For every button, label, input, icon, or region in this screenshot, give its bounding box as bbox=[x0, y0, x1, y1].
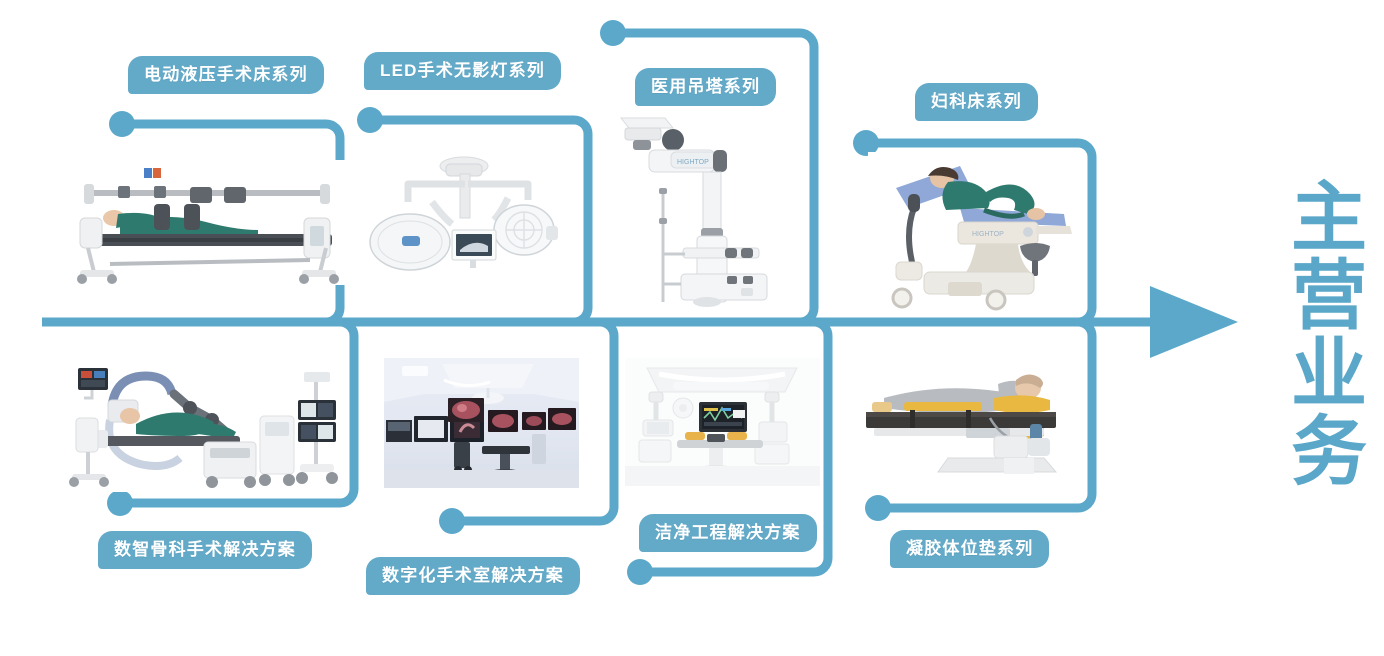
page-title: 主营业务 bbox=[1258, 118, 1362, 548]
photo-clean-room-operating-theatre bbox=[625, 358, 820, 486]
branch-node-dot-bottom-2 bbox=[439, 508, 465, 534]
label-led-surgical-light[interactable]: LED手术无影灯系列 bbox=[364, 52, 561, 90]
branch-node-dot-bottom-4 bbox=[865, 495, 891, 521]
photo-digital-operating-room bbox=[384, 358, 579, 488]
photo-gel-positioning-pad-table bbox=[848, 362, 1073, 487]
label-gel-positioning-pad[interactable]: 凝胶体位垫系列 bbox=[890, 530, 1049, 568]
branch-node-dot-top-1 bbox=[109, 111, 135, 137]
label-gynecology-bed[interactable]: 妇科床系列 bbox=[915, 83, 1038, 121]
photo-smart-orthopedic-surgery-suite bbox=[52, 360, 342, 492]
branch-node-dot-bottom-3 bbox=[627, 559, 653, 585]
photo-electric-hydraulic-operating-table bbox=[58, 160, 358, 285]
svg-text:HIGHTOP: HIGHTOP bbox=[972, 231, 1004, 238]
label-smart-ortho-solution[interactable]: 数智骨科手术解决方案 bbox=[98, 531, 312, 569]
label-digital-or-solution[interactable]: 数字化手术室解决方案 bbox=[366, 557, 580, 595]
branch-node-dot-top-2 bbox=[357, 107, 383, 133]
svg-text:HIGHTOP: HIGHTOP bbox=[677, 159, 709, 166]
branch-node-dot-bottom-1 bbox=[107, 490, 133, 516]
infographic-canvas: .w{fill:none;stroke:#5BA8CB;stroke-width… bbox=[0, 0, 1384, 656]
photo-led-shadowless-surgical-lamp bbox=[368, 150, 578, 290]
label-medical-pendant[interactable]: 医用吊塔系列 bbox=[635, 68, 776, 106]
branch-node-dot-top-3 bbox=[600, 20, 626, 46]
photo-medical-ceiling-pendant: HIGHTOP bbox=[615, 112, 790, 307]
flow-arrow-right bbox=[1150, 286, 1238, 358]
label-electro-hydraulic-table[interactable]: 电动液压手术床系列 bbox=[128, 56, 324, 94]
photo-gynecology-examination-bed: HIGHTOP bbox=[868, 152, 1083, 314]
label-clean-engineering-solution[interactable]: 洁净工程解决方案 bbox=[639, 514, 817, 552]
